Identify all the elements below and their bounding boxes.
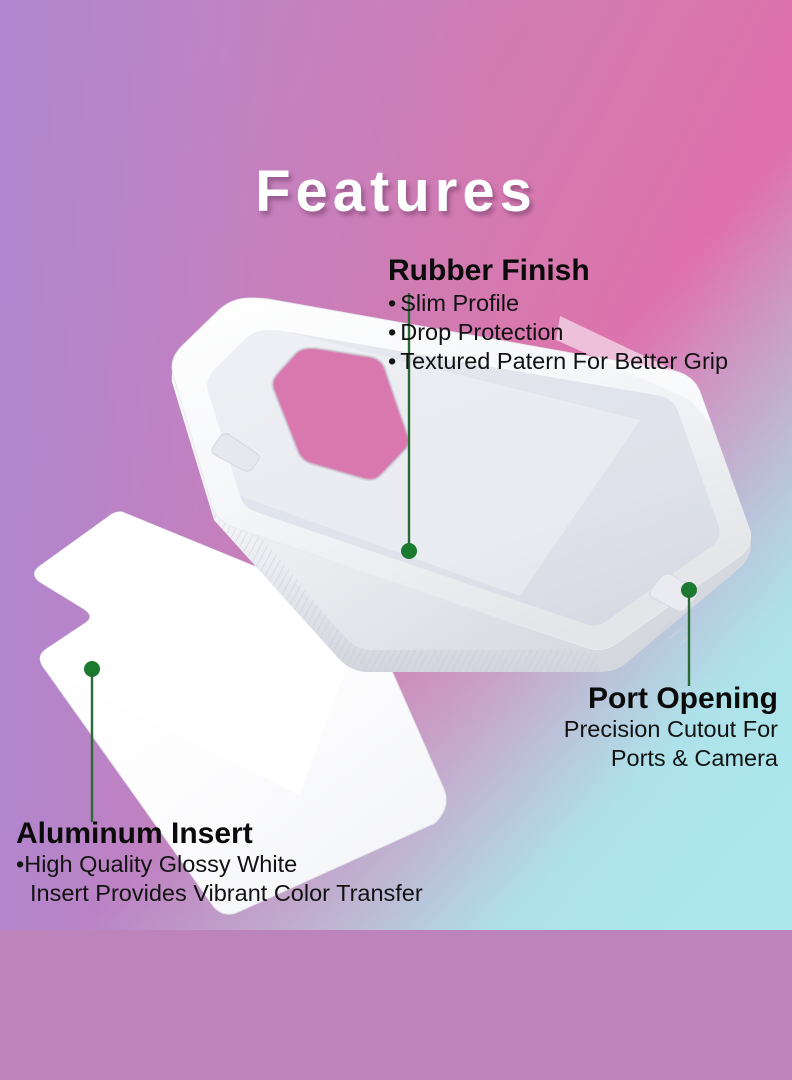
- callout-line-text: High Quality Glossy White: [24, 851, 297, 877]
- bullet-text: Drop Protection: [400, 319, 563, 345]
- callout-bullet-list-rubber-finish: •Slim Profile •Drop Protection •Textured…: [388, 289, 728, 376]
- list-item: •Slim Profile: [388, 289, 728, 318]
- callout-heading-rubber-finish: Rubber Finish: [388, 255, 728, 287]
- callout-aluminum-insert: Aluminum Insert •High Quality Glossy Whi…: [16, 818, 423, 908]
- callout-line: Precision Cutout For: [564, 715, 778, 744]
- list-item: •Drop Protection: [388, 318, 728, 347]
- callout-line: Ports & Camera: [564, 744, 778, 773]
- callout-heading-port-opening: Port Opening: [564, 683, 778, 715]
- product-illustration: [0, 0, 792, 1080]
- callout-line: Insert Provides Vibrant Color Transfer: [16, 879, 423, 908]
- callout-heading-aluminum-insert: Aluminum Insert: [16, 818, 423, 850]
- bullet-icon: •: [16, 851, 24, 877]
- bullet-text: Textured Patern For Better Grip: [400, 348, 728, 374]
- bullet-icon: •: [388, 348, 396, 374]
- callout-rubber-finish: Rubber Finish •Slim Profile •Drop Protec…: [388, 255, 728, 376]
- infographic-page: Features: [0, 0, 792, 1080]
- list-item: •Textured Patern For Better Grip: [388, 347, 728, 376]
- bullet-icon: •: [388, 319, 396, 345]
- bullet-text: Slim Profile: [400, 290, 519, 316]
- callout-line: •High Quality Glossy White: [16, 850, 423, 879]
- bullet-icon: •: [388, 290, 396, 316]
- callout-port-opening: Port Opening Precision Cutout For Ports …: [564, 683, 778, 773]
